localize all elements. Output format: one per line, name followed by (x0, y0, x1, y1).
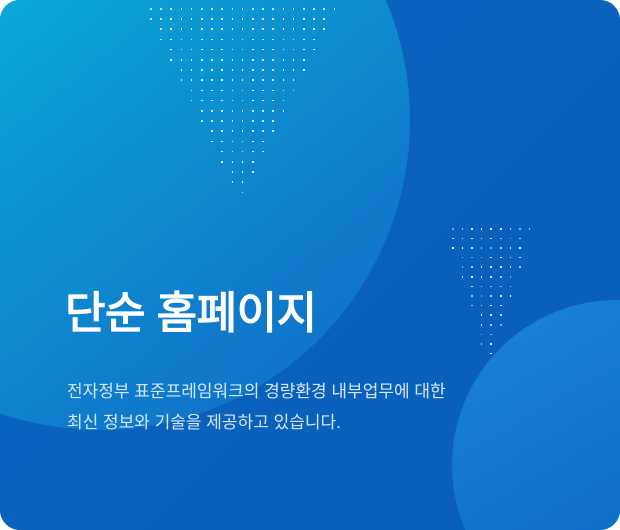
hero-subtitle: 전자정부 표준프레임워크의 경량환경 내부업무에 대한 최신 정보와 기술을 제… (67, 376, 565, 438)
hero-subtitle-line: 최신 정보와 기술을 제공하고 있습니다. (67, 407, 565, 438)
hero-subtitle-line: 전자정부 표준프레임워크의 경량환경 내부업무에 대한 (67, 376, 565, 407)
hero-content: 단순 홈페이지 전자정부 표준프레임워크의 경량환경 내부업무에 대한 최신 정… (65, 286, 577, 438)
hero-banner: 단순 홈페이지 전자정부 표준프레임워크의 경량환경 내부업무에 대한 최신 정… (0, 0, 620, 530)
page-title: 단순 홈페이지 (65, 286, 577, 342)
